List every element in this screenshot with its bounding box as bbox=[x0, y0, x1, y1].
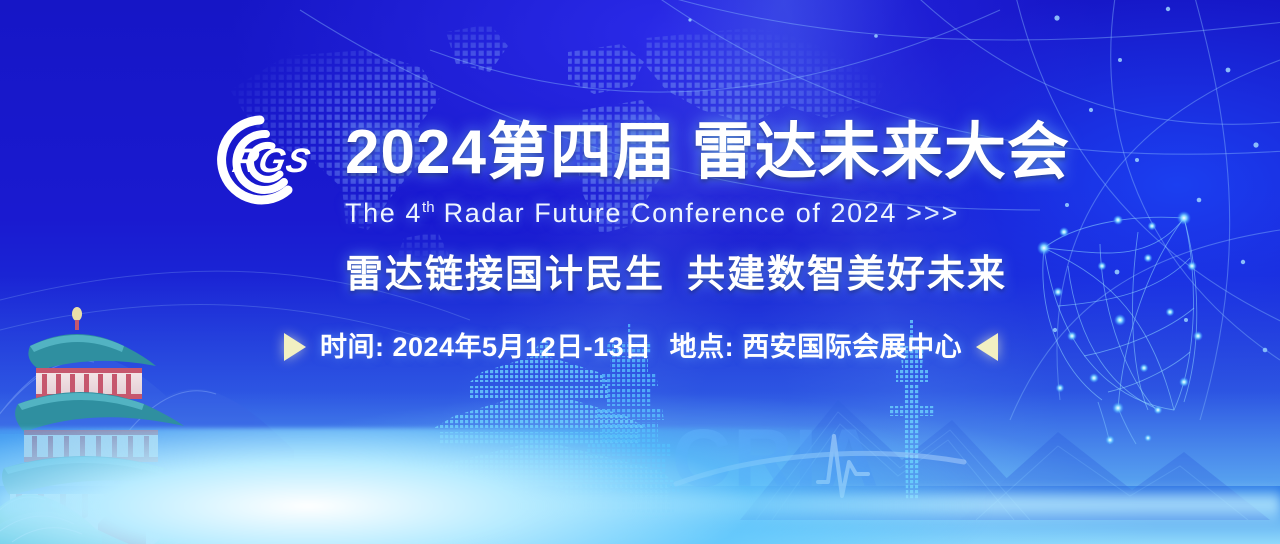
event-date: 时间: 2024年5月12日-13日 bbox=[320, 332, 652, 362]
chevron-right-icon: >>> bbox=[906, 198, 959, 228]
slogan-part-1: 雷达链接国计民生 bbox=[345, 254, 665, 296]
banner-text-block: 2024第四届雷达未来大会 The 4th Radar Future Confe… bbox=[0, 0, 1280, 544]
event-venue: 地点: 西安国际会展中心 bbox=[670, 332, 963, 362]
english-subtitle: The 4th Radar Future Conference of 2024 … bbox=[345, 192, 959, 229]
conference-banner: CRIA bbox=[0, 0, 1280, 544]
subtitle-lead: The 4 bbox=[345, 198, 422, 228]
subtitle-ordinal-suffix: th bbox=[422, 199, 435, 216]
conference-slogan: 雷达链接国计民生共建数智美好未来 bbox=[345, 252, 1007, 298]
slogan-part-2: 共建数智美好未来 bbox=[687, 254, 1007, 296]
subtitle-rest: Radar Future Conference of 2024 bbox=[444, 198, 897, 228]
event-info-text: 时间: 2024年5月12日-13日地点: 西安国际会展中心 bbox=[320, 330, 962, 364]
page-title: 2024第四届雷达未来大会 bbox=[345, 118, 1070, 188]
play-triangle-left-icon bbox=[976, 333, 998, 361]
title-part-1: 2024第四届 bbox=[345, 118, 676, 187]
title-part-2: 雷达未来大会 bbox=[692, 118, 1070, 187]
play-triangle-right-icon bbox=[284, 333, 306, 361]
event-info-line: 时间: 2024年5月12日-13日地点: 西安国际会展中心 bbox=[284, 330, 998, 364]
